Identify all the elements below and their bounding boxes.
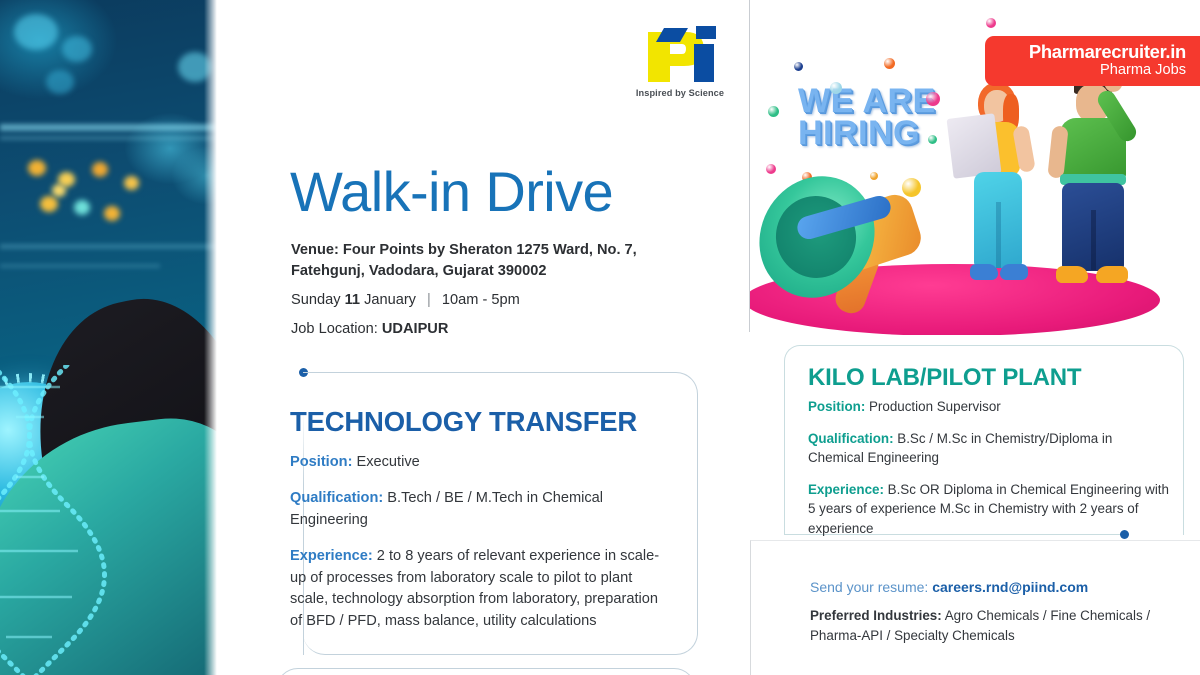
man-shoe-right <box>1096 266 1128 283</box>
bokeh-dot <box>92 162 108 177</box>
man-shoe-left <box>1056 266 1088 283</box>
bokeh-dot <box>62 36 92 62</box>
woman-pants-seam <box>996 202 1001 268</box>
bokeh-dot <box>74 200 90 215</box>
page-title: Walk-in Drive <box>290 164 613 220</box>
venue-text: Venue: Four Points by Sheraton 1275 Ward… <box>291 240 691 281</box>
woman-character <box>956 82 1042 294</box>
confetti-sphere <box>794 62 803 71</box>
badge-subtitle: Pharma Jobs <box>985 62 1186 79</box>
logo-tagline: Inspired by Science <box>630 88 730 98</box>
field-label: Position: <box>290 454 352 470</box>
confetti-sphere <box>768 106 779 117</box>
bokeh-dot <box>124 176 139 190</box>
job-field: Experience: B.Sc OR Diploma in Chemical … <box>808 480 1170 539</box>
badge-site-name: Pharmarecruiter.in <box>985 41 1186 62</box>
kilo-lab-fields: Position: Production Supervisor Qualific… <box>808 397 1170 550</box>
job-location-value: UDAIPUR <box>382 321 448 337</box>
confetti-sphere <box>928 135 937 144</box>
field-label: Position: <box>808 399 865 414</box>
job-field: Experience: 2 to 8 years of relevant exp… <box>290 546 668 634</box>
man-pants-seam <box>1091 210 1096 270</box>
job-heading-kilo-lab: KILO LAB/PILOT PLANT <box>808 364 1081 392</box>
hiring-line-2: HIRING <box>798 118 936 150</box>
preferred-industries: Preferred Industries: Agro Chemicals / F… <box>810 606 1180 646</box>
job-field: Position: Executive <box>290 452 668 474</box>
woman-shoe-left <box>970 264 998 280</box>
resume-label: Send your resume: <box>810 579 928 595</box>
job-field: Position: Production Supervisor <box>808 397 1170 417</box>
resume-line: Send your resume: careers.rnd@piind.com <box>810 579 1088 595</box>
date-day: Sunday <box>291 292 341 308</box>
paper-sheet <box>947 113 1002 178</box>
screen-stripe <box>0 124 218 131</box>
confetti-sphere <box>926 92 940 106</box>
dna-helix <box>0 365 122 675</box>
confetti-sphere <box>870 172 878 180</box>
field-label: Experience: <box>290 548 373 564</box>
job-location-line: Job Location: UDAIPUR <box>291 321 448 337</box>
job-field: Qualification: B.Tech / BE / M.Tech in C… <box>290 488 668 532</box>
technology-transfer-fields: Position: Executive Qualification: B.Tec… <box>290 452 668 647</box>
bokeh-dot <box>14 14 58 50</box>
confetti-sphere <box>766 164 776 174</box>
pi-logo-icon <box>634 24 726 86</box>
field-value: Production Supervisor <box>865 399 1000 414</box>
lab-scientist-photo <box>0 0 218 675</box>
job-heading-technology-transfer: TECHNOLOGY TRANSFER <box>290 406 637 438</box>
field-label: Qualification: <box>808 431 894 446</box>
woman-shoe-right <box>1000 264 1028 280</box>
screen-stripe <box>0 244 218 249</box>
we-are-hiring-text: WE ARE HIRING <box>798 86 936 150</box>
resume-email[interactable]: careers.rnd@piind.com <box>932 579 1088 595</box>
confetti-sphere <box>830 82 842 94</box>
job-field: Qualification: B.Sc / M.Sc in Chemistry/… <box>808 429 1170 468</box>
confetti-sphere <box>902 178 921 197</box>
screen-stripe <box>0 264 160 268</box>
bokeh-dot <box>104 206 120 221</box>
bokeh-dot <box>46 70 74 94</box>
company-logo: Inspired by Science <box>630 24 730 98</box>
recruitment-poster: Inspired by Science Walk-in Drive Venue:… <box>0 0 1200 675</box>
job-location-label: Job Location: <box>291 321 378 337</box>
field-value: Executive <box>352 454 419 470</box>
date-month: January <box>364 292 416 308</box>
bokeh-dot <box>28 160 46 176</box>
date-time-line: Sunday 11 January | 10am - 5pm <box>291 292 520 308</box>
confetti-sphere <box>986 18 996 28</box>
field-label: Qualification: <box>290 490 383 506</box>
date-separator: | <box>427 292 431 308</box>
pharmarecruiter-badge[interactable]: Pharmarecruiter.in Pharma Jobs <box>985 36 1200 86</box>
secondary-card-top <box>276 668 696 675</box>
man-character <box>1046 70 1146 294</box>
photo-edge-fade <box>204 0 218 675</box>
industries-label: Preferred Industries: <box>810 608 942 623</box>
bokeh-dot <box>40 196 58 212</box>
event-time: 10am - 5pm <box>442 292 520 308</box>
screen-stripe <box>0 136 218 140</box>
field-label: Experience: <box>808 482 884 497</box>
confetti-sphere <box>884 58 895 69</box>
bokeh-dot <box>52 184 66 197</box>
date-number: 11 <box>345 292 360 308</box>
